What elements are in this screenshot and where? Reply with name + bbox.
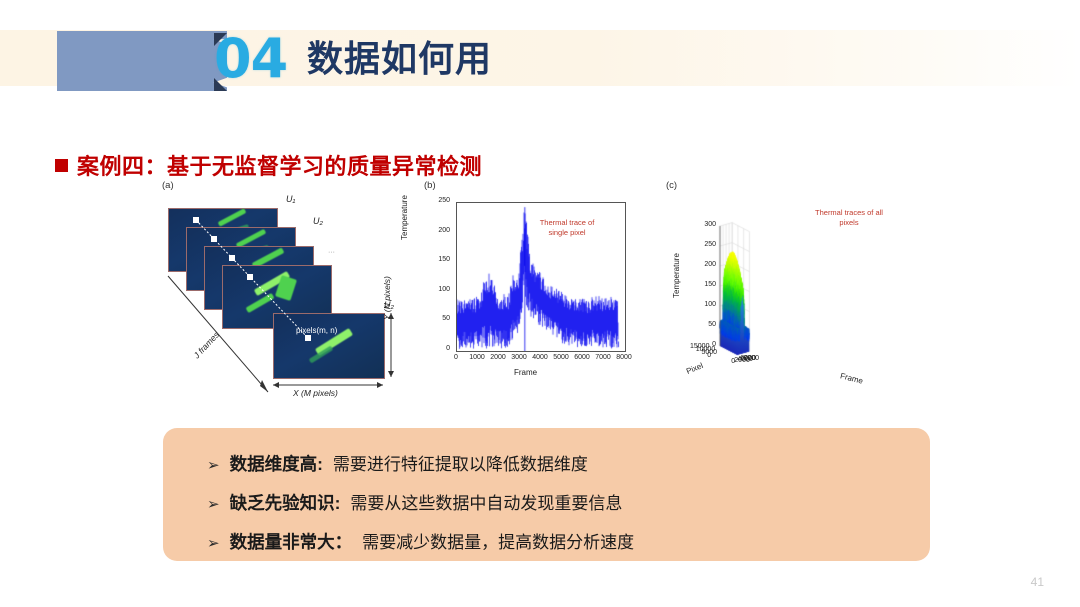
- svg-text:···: ···: [328, 249, 335, 256]
- panel-b-x-axis-label: Frame: [514, 368, 537, 377]
- arrow-bullet-icon: ➢: [207, 458, 220, 473]
- label-u-first: U₁: [286, 194, 295, 204]
- list-item: ➢ 数据量非常大： 需要减少数据量，提高数据分析速度: [207, 528, 634, 554]
- panel-c-annotation: Thermal traces of all pixels: [806, 208, 892, 228]
- summary-box: ➢ 数据维度高: 需要进行特征提取以降低数据维度 ➢ 缺乏先验知识: 需要从这些…: [163, 428, 930, 561]
- section-number-chip: [57, 31, 227, 91]
- panel-b-y-tick: 250: [424, 197, 450, 204]
- bullet-body-text: 需要进行特征提取以降低数据维度: [333, 450, 588, 475]
- bullet-strong-text: 数据维度高:: [230, 451, 323, 476]
- section-number: 04: [214, 26, 287, 92]
- panel-b-y-tick: 200: [424, 227, 450, 234]
- panel-b-x-tick: 8000: [611, 354, 637, 361]
- label-u-second: U₂: [313, 216, 323, 226]
- bullet-strong-text: 数据量非常大：: [230, 529, 353, 554]
- panel-c-z-tick: 50: [692, 321, 716, 328]
- page-title: 数据如何用: [307, 33, 492, 85]
- label-j-frames: J frames: [192, 330, 222, 361]
- list-item: ➢ 数据维度高: 需要进行特征提取以降低数据维度: [207, 450, 588, 476]
- panel-b-y-axis-label: Temperature: [400, 195, 409, 240]
- panel-b-y-tick: 150: [424, 256, 450, 263]
- figure-panel-b: (b) Temperature Frame Thermal trace of s…: [418, 180, 643, 405]
- list-item: ➢ 缺乏先验知识: 需要从这些数据中自动发现重要信息: [207, 489, 622, 515]
- panel-a-tag: (a): [162, 180, 174, 191]
- square-bullet-icon: [55, 159, 68, 172]
- panel-c-z-tick: 150: [692, 281, 716, 288]
- panel-c-z-tick: 200: [692, 261, 716, 268]
- panel-b-y-tick: 100: [424, 286, 450, 293]
- panel-c-z-tick: 300: [692, 221, 716, 228]
- bullet-strong-text: 缺乏先验知识:: [230, 490, 341, 515]
- panel-c-z-tick: 100: [692, 301, 716, 308]
- panel-c-z-tick: 250: [692, 241, 716, 248]
- panel-c-tag: (c): [666, 180, 677, 191]
- arrow-bullet-icon: ➢: [207, 536, 220, 551]
- panel-c-z-axis-label: Temperature: [672, 253, 681, 298]
- panel-b-tag: (b): [424, 180, 436, 191]
- page-number: 41: [1031, 575, 1044, 589]
- panel-b-annotation: Thermal trace of single pixel: [530, 218, 604, 238]
- figure-panel-a: (a): [160, 180, 395, 405]
- label-pixels: pixels(m, n): [296, 326, 337, 335]
- label-x-axis: X (M pixels): [293, 388, 338, 398]
- arrow-bullet-icon: ➢: [207, 497, 220, 512]
- subtitle-text: 案例四：基于无监督学习的质量异常检测: [77, 149, 482, 181]
- figure-group: (a): [160, 180, 920, 410]
- subtitle: 案例四：基于无监督学习的质量异常检测: [55, 149, 482, 181]
- panel-b-y-tick: 50: [424, 315, 450, 322]
- bullet-body-text: 需要从这些数据中自动发现重要信息: [350, 489, 622, 514]
- panel-b-y-tick: 0: [424, 345, 450, 352]
- panel-c-frame-tick: 8000: [743, 355, 759, 362]
- bullet-body-text: 需要减少数据量，提高数据分析速度: [362, 528, 634, 553]
- thermal-frame-front: [273, 313, 385, 379]
- panel-c-pixel-tick: 0: [707, 352, 711, 359]
- figure-panel-c: (c) Temperature Pixel Frame Thermal trac…: [658, 180, 920, 405]
- label-y-axis: Y (N pixels): [382, 276, 392, 320]
